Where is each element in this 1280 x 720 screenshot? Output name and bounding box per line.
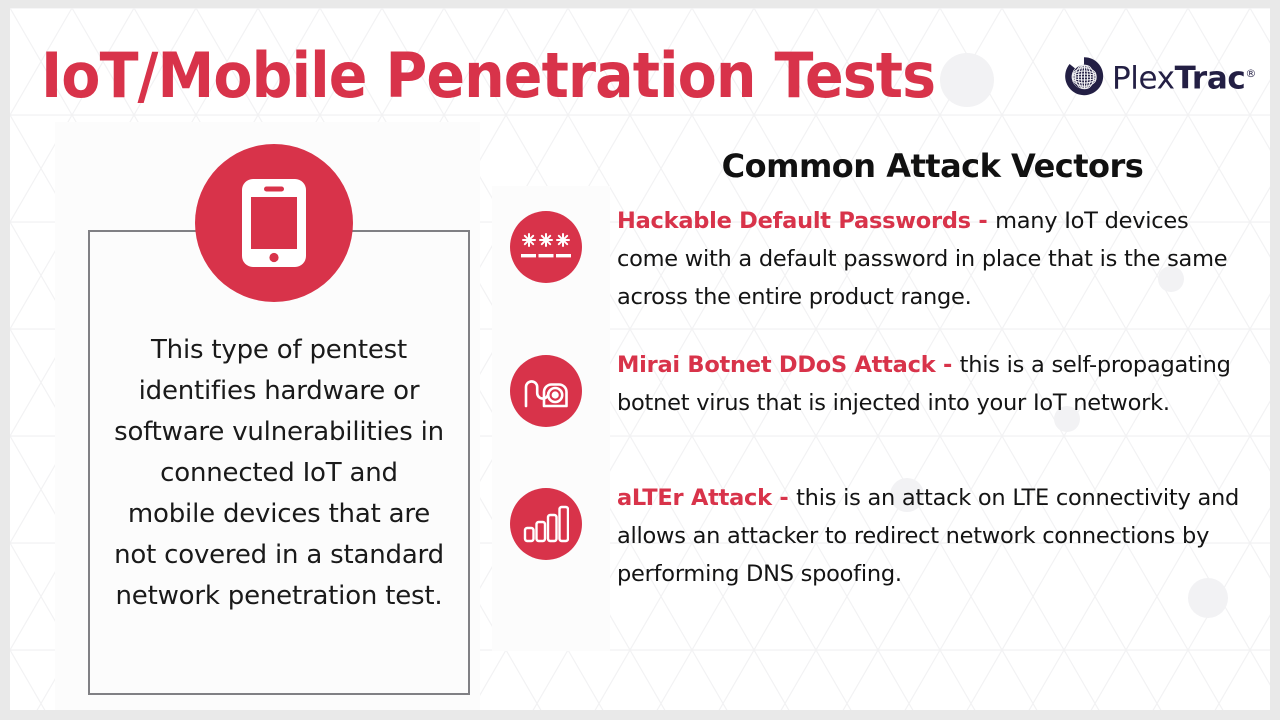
worm-badge bbox=[510, 355, 582, 427]
plextrac-wordmark: PlexTrac® bbox=[1112, 58, 1256, 94]
attack-vector-text: Mirai Botnet DDoS Attack - this is a sel… bbox=[617, 344, 1250, 422]
attack-vector-item: aLTEr Attack - this is an attack on LTE … bbox=[510, 477, 1250, 593]
logo-word-plex: Plex bbox=[1112, 60, 1175, 96]
password-asterisks-icon bbox=[521, 230, 571, 264]
attack-vector-title: aLTEr Attack - bbox=[617, 485, 796, 511]
attack-vector-text: Hackable Default Passwords - many IoT de… bbox=[617, 200, 1250, 316]
worm-virus-icon bbox=[521, 371, 571, 411]
smartphone-badge bbox=[195, 144, 353, 302]
description-text: This type of pentest identifies hardware… bbox=[114, 330, 444, 617]
plextrac-logo: PlexTrac® bbox=[1062, 54, 1256, 98]
section-heading: Common Attack Vectors bbox=[710, 146, 1155, 186]
attack-vector-title: Hackable Default Passwords - bbox=[617, 208, 995, 234]
plextrac-sphere-logo-icon bbox=[1062, 54, 1106, 98]
password-badge bbox=[510, 211, 582, 283]
slide-page: IoT/Mobile Penetration Tests PlexTrac® bbox=[10, 8, 1270, 710]
attack-vector-item: Hackable Default Passwords - many IoT de… bbox=[510, 200, 1250, 316]
page-title: IoT/Mobile Penetration Tests bbox=[41, 40, 935, 112]
logo-trademark: ® bbox=[1245, 67, 1256, 80]
attack-vector-title: Mirai Botnet DDoS Attack - bbox=[617, 352, 960, 378]
signal-bars-icon bbox=[523, 505, 569, 543]
attack-vector-item: Mirai Botnet DDoS Attack - this is a sel… bbox=[510, 344, 1250, 449]
smartphone-icon bbox=[238, 177, 310, 269]
attack-vector-text: aLTEr Attack - this is an attack on LTE … bbox=[617, 477, 1250, 593]
attack-vectors-list: Hackable Default Passwords - many IoT de… bbox=[510, 200, 1250, 621]
logo-word-trac: Trac bbox=[1175, 60, 1246, 96]
signal-badge bbox=[510, 488, 582, 560]
